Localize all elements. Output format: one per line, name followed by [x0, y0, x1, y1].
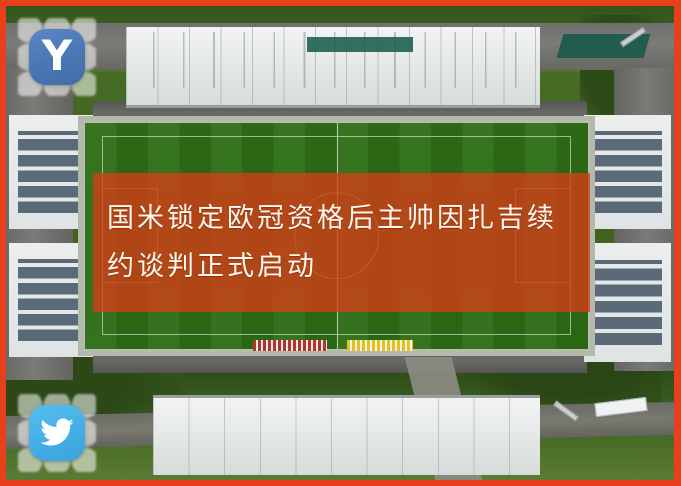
- red-barrier-markings: [253, 340, 326, 350]
- solar-panel-array: [18, 259, 85, 341]
- yandex-icon-badge[interactable]: Y: [18, 18, 96, 96]
- twitter-app-icon[interactable]: [29, 405, 85, 461]
- building-west-upper: [9, 115, 93, 229]
- twitter-bird-icon: [39, 415, 75, 451]
- roof-ribs: [153, 398, 540, 476]
- twitter-icon-badge[interactable]: [18, 394, 96, 472]
- yandex-app-icon[interactable]: Y: [29, 29, 85, 85]
- yellow-barrier-markings: [347, 340, 414, 350]
- letter-y-glyph: Y: [42, 35, 72, 77]
- solar-panel-array: [593, 131, 662, 213]
- grandstand-south: [153, 395, 540, 476]
- building-east-upper: [584, 115, 671, 229]
- headline-line-1: 国米锁定欧冠资格后主帅因扎吉续: [107, 195, 576, 243]
- building-east-lower: [584, 243, 671, 362]
- green-roof-north: [307, 37, 414, 52]
- building-west-lower: [9, 243, 93, 357]
- stadium-aerial-photo: 国米锁定欧冠资格后主帅因扎吉续 约谈判正式启动 Y: [6, 6, 674, 480]
- solar-panel-array: [18, 131, 85, 213]
- solar-panel-array: [593, 260, 662, 345]
- headline-banner: 国米锁定欧冠资格后主帅因扎吉续 约谈判正式启动: [93, 173, 590, 312]
- image-frame: 国米锁定欧冠资格后主帅因扎吉续 约谈判正式启动 Y: [0, 0, 681, 486]
- headline-line-2: 约谈判正式启动: [107, 243, 576, 291]
